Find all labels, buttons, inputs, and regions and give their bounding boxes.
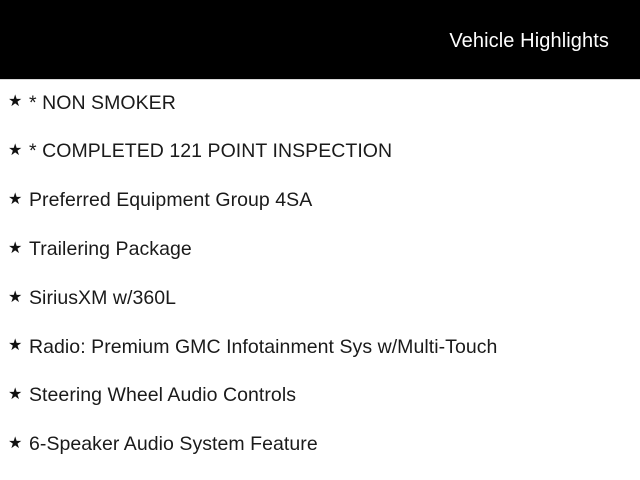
star-icon: ★ [8, 143, 29, 159]
star-icon: ★ [8, 241, 29, 257]
header-band: Vehicle Highlights [0, 0, 640, 79]
list-item-label: * NON SMOKER [29, 94, 176, 114]
star-icon: ★ [8, 436, 29, 452]
list-item: ★ SiriusXM w/360L [0, 274, 640, 323]
list-item-label: Steering Wheel Audio Controls [29, 386, 296, 406]
star-icon: ★ [8, 192, 29, 208]
list-item: ★ Preferred Equipment Group 4SA [0, 177, 640, 226]
list-item: ★ Steering Wheel Audio Controls [0, 372, 640, 421]
list-item-label: 6-Speaker Audio System Feature [29, 435, 318, 455]
list-item-label: Radio: Premium GMC Infotainment Sys w/Mu… [29, 338, 497, 358]
list-item: ★ * COMPLETED 121 POINT INSPECTION [0, 128, 640, 177]
list-item-label: Preferred Equipment Group 4SA [29, 191, 312, 211]
list-item: ★ * NON SMOKER [0, 79, 640, 128]
list-item-label: SiriusXM w/360L [29, 289, 176, 309]
list-item: ★ Radio: Premium GMC Infotainment Sys w/… [0, 323, 640, 372]
vehicle-highlights-page: Vehicle Highlights ★ * NON SMOKER ★ * CO… [0, 0, 640, 480]
list-item: ★ Trailering Package [0, 225, 640, 274]
list-item-label: * COMPLETED 121 POINT INSPECTION [29, 142, 392, 162]
star-icon: ★ [8, 290, 29, 306]
star-icon: ★ [8, 94, 29, 110]
list-item-label: Trailering Package [29, 240, 192, 260]
star-icon: ★ [8, 338, 29, 354]
vehicle-highlights-list: ★ * NON SMOKER ★ * COMPLETED 121 POINT I… [0, 79, 640, 469]
list-item: ★ 6-Speaker Audio System Feature [0, 421, 640, 470]
star-icon: ★ [8, 387, 29, 403]
page-title: Vehicle Highlights [449, 31, 609, 51]
